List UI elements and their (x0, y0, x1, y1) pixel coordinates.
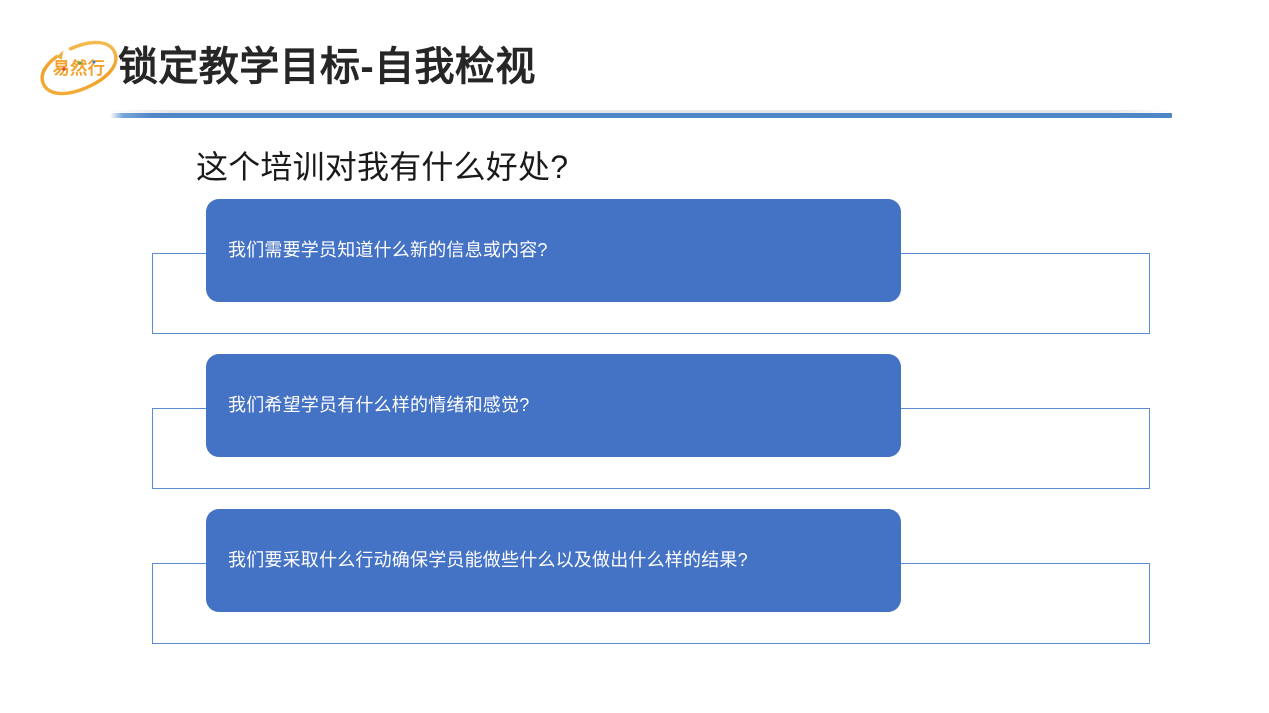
slide-header: 易然行 锁定教学目标-自我检视 (0, 0, 1269, 128)
title-divider-rule (110, 113, 1172, 118)
prompt-text: 我们希望学员有什么样的情绪和感觉? (228, 354, 887, 457)
prompt-box[interactable]: 我们要采取什么行动确保学员能做些什么以及做出什么样的结果? (206, 509, 901, 612)
svg-text:易然行: 易然行 (53, 58, 106, 78)
prompt-box[interactable]: 我们需要学员知道什么新的信息或内容? (206, 199, 901, 302)
prompt-box[interactable]: 我们希望学员有什么样的情绪和感觉? (206, 354, 901, 457)
page-title: 锁定教学目标-自我检视 (118, 38, 536, 96)
prompt-text: 我们需要学员知道什么新的信息或内容? (228, 199, 887, 302)
prompt-text: 我们要采取什么行动确保学员能做些什么以及做出什么样的结果? (228, 509, 887, 612)
section-heading: 这个培训对我有什么好处? (196, 142, 568, 188)
slide-canvas: 易然行 锁定教学目标-自我检视 这个培训对我有什么好处? 我们需要学员知道什么新… (0, 0, 1269, 713)
brand-logo-yiranxing-icon: 易然行 (36, 38, 122, 96)
